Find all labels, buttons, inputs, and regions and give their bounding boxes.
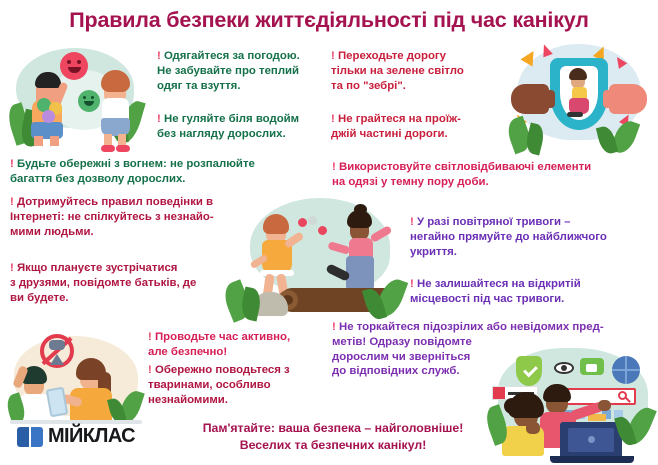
rule-text-line: Одягайтеся за погодою.: [164, 50, 300, 62]
rule-text-line: Дотримуйтесь правил поведінки в: [17, 196, 213, 208]
rule-text-line: метів! Одразу повідомте: [332, 336, 472, 348]
open-book-icon: [17, 427, 43, 447]
rule-text-line: Не гуляйте біля водойм: [164, 113, 299, 125]
rule-text-line: Інтернеті: не спілкуйтесь з незнайо-: [10, 211, 214, 223]
rule-text-line: Проводьте час активно,: [155, 331, 290, 343]
rule-tell-parents: ! Якщо плануєте зустрічатися з друзями, …: [10, 261, 230, 305]
child-shield-protection-illustration: [503, 40, 655, 156]
rule-text-line: дорослим чи зверніться: [332, 351, 470, 363]
safety-poster: Правила безпеки життєдіяльності під час …: [0, 0, 658, 465]
exclamation-icon: !: [410, 216, 414, 228]
rule-no-open-areas: ! Не залишайтеся на відкритій місцевості…: [410, 277, 658, 307]
rule-text-line: Обережно поводьтеся з: [155, 364, 290, 376]
rule-text-line: Не грайтеся на проїж-: [338, 113, 461, 125]
rule-text-line: Будьте обережні з вогнем: не розпалюйте: [17, 158, 255, 170]
rule-text-line: мими людьми.: [10, 226, 94, 238]
rule-text-line: Переходьте дорогу: [338, 50, 446, 62]
rule-fire-safety: ! Будьте обережні з вогнем: не розпалюйт…: [10, 157, 330, 187]
exclamation-icon: !: [10, 158, 14, 170]
miyklas-logo[interactable]: МІЙКЛАС: [17, 425, 135, 448]
rule-text-line: негайно прямуйте до найближчого: [410, 231, 607, 243]
exclamation-icon: !: [331, 50, 335, 62]
rule-text-line: джій частині дороги.: [331, 128, 448, 140]
rule-text-line: але безпечно!: [148, 346, 227, 358]
kids-with-emoji-faces-illustration: [4, 42, 154, 154]
exclamation-icon: !: [10, 262, 14, 274]
exclamation-icon: !: [410, 278, 414, 290]
rule-text-line: багаття без дозволу дорослих.: [10, 173, 185, 185]
rule-dress-for-weather: ! Одягайтеся за погодою. Не забувайте пр…: [157, 49, 327, 93]
rule-text-line: на одязі у темну пору доби.: [332, 176, 489, 188]
footer-message: Пам'ятайте: ваша безпека – найголовніше!…: [118, 420, 548, 454]
rule-text-line: до відповідних служб.: [332, 365, 460, 377]
rule-text-line: місцевості під час тривоги.: [410, 293, 564, 305]
rule-text-line: тільки на зелене світло: [331, 65, 464, 77]
stranger-danger-tablet-illustration: [6, 332, 146, 432]
rule-text-line: тваринами, особливо: [148, 379, 271, 391]
footer-line-1: Пам'ятайте: ваша безпека – найголовніше!: [118, 420, 548, 437]
exclamation-icon: !: [332, 161, 336, 173]
rule-text-line: та по "зебрі".: [331, 80, 406, 92]
page-title: Правила безпеки життєдіяльності під час …: [0, 8, 658, 33]
exclamation-icon: !: [332, 321, 336, 333]
rule-text-line: Використовуйте світловідбиваючі елементи: [339, 161, 591, 173]
rule-reflective-elements: ! Використовуйте світловідбиваючі елемен…: [332, 160, 654, 190]
rule-text-line: без нагляду дорослих.: [157, 128, 286, 140]
rule-no-water-unsupervised: ! Не гуляйте біля водойм без нагляду дор…: [157, 112, 327, 142]
rule-active-safe-time: ! Проводьте час активно, але безпечно!: [148, 330, 328, 360]
exclamation-icon: !: [157, 113, 161, 125]
exclamation-icon: !: [331, 113, 335, 125]
rule-internet-rules: ! Дотримуйтесь правил поведінки в Інтерн…: [10, 195, 240, 239]
rule-text-line: укриття.: [410, 246, 457, 258]
rule-text-line: ви будете.: [10, 292, 69, 304]
rule-text-line: Якщо плануєте зустрічатися: [17, 262, 177, 274]
rule-text-line: одяг та взуття.: [157, 80, 241, 92]
rule-air-raid-shelter: ! У разі повітряної тривоги – негайно пр…: [410, 215, 658, 259]
rule-text-line: з друзями, повідомте батьків, де: [10, 277, 196, 289]
exclamation-icon: !: [148, 364, 152, 376]
rule-text-line: незнайомими.: [148, 394, 228, 406]
logo-text: МІЙКЛАС: [48, 425, 135, 448]
rule-cross-on-green: ! Переходьте дорогу тільки на зелене сві…: [331, 49, 511, 93]
rule-text-line: Не залишайтеся на відкритій: [417, 278, 581, 290]
rule-no-playing-on-road: ! Не грайтеся на проїж- джій частині дор…: [331, 112, 511, 142]
rule-text-line: Не забувайте про теплий: [157, 65, 299, 77]
kids-playing-outdoors-illustration: [222, 196, 410, 324]
exclamation-icon: !: [157, 50, 161, 62]
rule-text-line: Не торкайтеся підозрілих або невідомих п…: [339, 321, 604, 333]
exclamation-icon: !: [10, 196, 14, 208]
rule-text-line: У разі повітряної тривоги –: [417, 216, 571, 228]
footer-line-2: Веселих та безпечних канікул!: [118, 437, 548, 454]
exclamation-icon: !: [148, 331, 152, 343]
rule-careful-with-animals: ! Обережно поводьтеся з тваринами, особл…: [148, 363, 328, 407]
